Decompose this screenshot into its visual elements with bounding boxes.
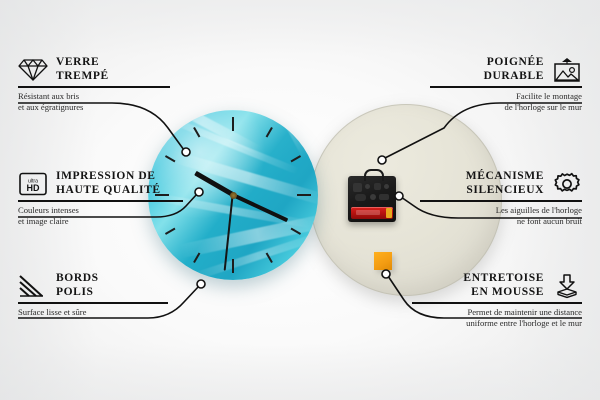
callout-desc: Facilite le montage de l'horloge sur le …: [430, 91, 582, 112]
ultra-hd-icon: ultra HD: [18, 171, 48, 197]
battery-terminal: [386, 208, 392, 218]
callout-entretoise-en-mousse: ENTRETOISE EN MOUSSE Permet de maintenir…: [412, 272, 582, 328]
picture-hanger-icon: [552, 57, 582, 83]
callout-head: ultra HD IMPRESSION DE HAUTE QUALITÉ: [18, 170, 183, 197]
callout-rule: [18, 200, 183, 202]
callout-title: VERRE TREMPÉ: [56, 56, 109, 83]
callout-title: POIGNÉE DURABLE: [484, 56, 544, 83]
callout-rule: [412, 302, 582, 304]
foam-spacer-icon: [552, 273, 582, 299]
polished-edge-icon: [18, 273, 48, 299]
callout-mecanisme-silencieux: MÉCANISME SILENCIEUX Les aiguilles de l'…: [420, 170, 582, 226]
svg-text:HD: HD: [27, 183, 40, 193]
callout-desc: Les aiguilles de l'horloge ne font aucun…: [420, 205, 582, 226]
callout-rule: [18, 302, 168, 304]
callout-impression-haute-qualite: ultra HD IMPRESSION DE HAUTE QUALITÉ Cou…: [18, 170, 183, 226]
mechanism-details: [352, 182, 392, 202]
callout-title: MÉCANISME SILENCIEUX: [466, 170, 544, 197]
gear-icon: [552, 171, 582, 197]
clock-center-cap: [230, 192, 237, 199]
clock-battery: [351, 207, 393, 219]
mechanism-hanger-icon: [364, 169, 384, 181]
callout-desc: Couleurs intenses et image claire: [18, 205, 183, 226]
callout-rule: [420, 200, 582, 202]
callout-head: ENTRETOISE EN MOUSSE: [412, 272, 582, 299]
callout-desc: Surface lisse et sûre: [18, 307, 168, 318]
callout-desc: Permet de maintenir une distance uniform…: [412, 307, 582, 328]
clock-mechanism: [348, 176, 396, 222]
callout-title: IMPRESSION DE HAUTE QUALITÉ: [56, 170, 161, 197]
callout-bords-polis: BORDS POLIS Surface lisse et sûre: [18, 272, 168, 318]
callout-desc: Résistant aux bris et aux égratignures: [18, 91, 170, 112]
callout-head: POIGNÉE DURABLE: [430, 56, 582, 83]
callout-title: ENTRETOISE EN MOUSSE: [463, 272, 544, 299]
callout-poignee-durable: POIGNÉE DURABLE Facilite le montage de l…: [430, 56, 582, 112]
callout-verre-trempe: VERRE TREMPÉ Résistant aux bris et aux é…: [18, 56, 170, 112]
callout-rule: [18, 86, 170, 88]
diamond-icon: [18, 57, 48, 83]
callout-head: BORDS POLIS: [18, 272, 168, 299]
battery-label: [356, 210, 380, 215]
callout-head: MÉCANISME SILENCIEUX: [420, 170, 582, 197]
callout-title: BORDS POLIS: [56, 272, 99, 299]
callout-rule: [430, 86, 582, 88]
foam-spacer-pad: [374, 252, 392, 270]
product-infographic: VERRE TREMPÉ Résistant aux bris et aux é…: [0, 0, 600, 400]
callout-head: VERRE TREMPÉ: [18, 56, 170, 83]
